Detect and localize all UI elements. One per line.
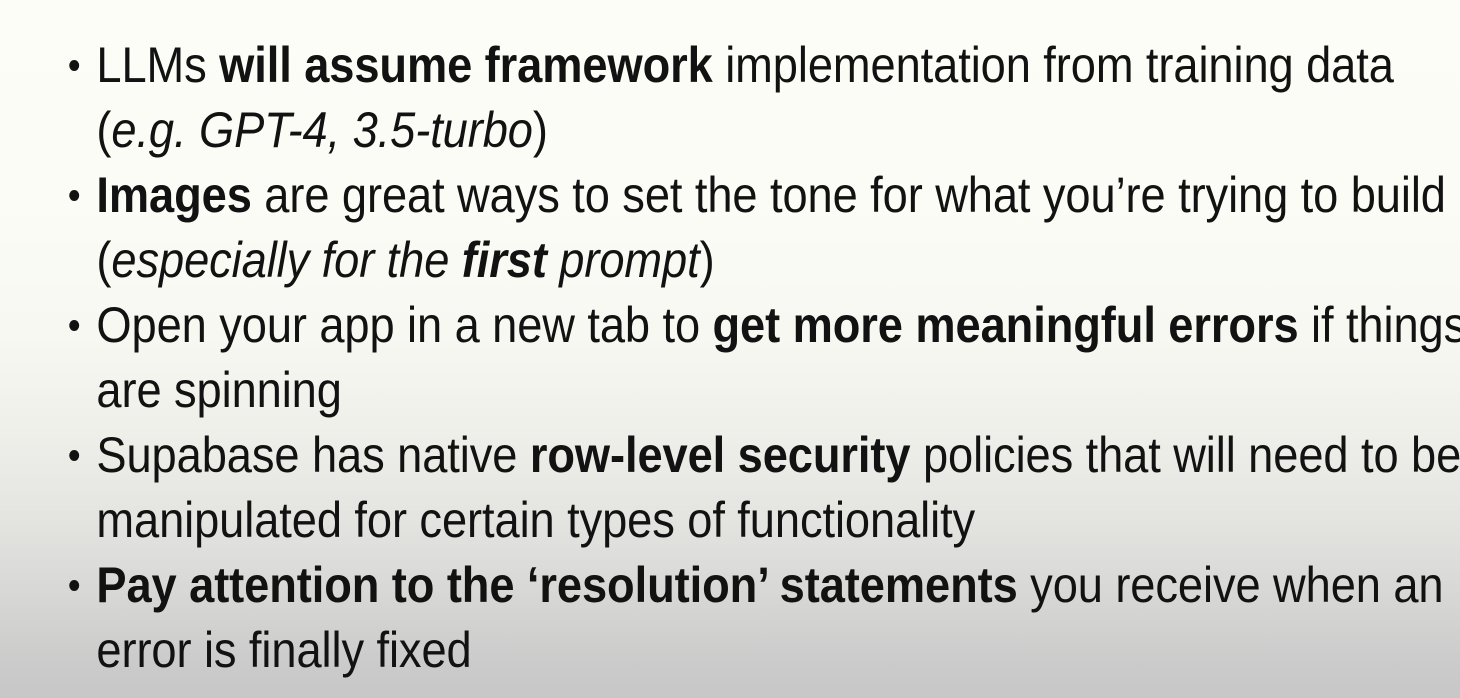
bullet-open-app-new-tab: Open your app in a new tab to get more m… [62,293,1460,423]
bullet-text-run: prompt [547,232,700,288]
bullet-resolution-statements: Pay attention to the ‘resolution’ statem… [62,553,1460,683]
bullet-text-run: ) [700,232,715,288]
bullet-text-run: Images [96,167,251,223]
bullet-text-run: will assume framework [219,37,713,93]
bullet-text-run: first [462,232,547,288]
bullet-dot-icon [69,60,79,71]
slide-canvas: LLMs will assume framework implementatio… [0,0,1460,698]
bullet-text: LLMs will assume framework implementatio… [96,33,1460,163]
bullet-dot-icon [69,450,79,461]
bullet-text-run: e.g. GPT-4, 3.5-turbo [111,102,533,158]
bullet-text-run: get more meaningful errors [713,297,1299,353]
bullet-text-run: especially for the [111,232,461,288]
bullet-images-set-tone: Images are great ways to set the tone fo… [62,163,1460,293]
bullet-text-run: row-level security [530,427,911,483]
bullet-text: Pay attention to the ‘resolution’ statem… [96,553,1460,683]
bullet-list: LLMs will assume framework implementatio… [62,33,1444,683]
bullet-text: Open your app in a new tab to get more m… [96,293,1460,423]
bullet-dot-icon [69,190,79,201]
bullet-text-run: Open your app in a new tab to [96,297,712,353]
bullet-text-run: Pay attention to the ‘resolution’ statem… [96,557,1017,613]
bullet-llms-assume-framework: LLMs will assume framework implementatio… [62,33,1460,163]
bullet-supabase-row-level-security: Supabase has native row-level security p… [62,423,1460,553]
bullet-text-run: ) [533,102,548,158]
bullet-dot-icon [69,580,79,591]
bullet-dot-icon [69,320,79,331]
bullet-text: Images are great ways to set the tone fo… [96,163,1460,293]
bullet-text: Supabase has native row-level security p… [96,423,1460,553]
bullet-text-run: Supabase has native [96,427,529,483]
bullet-text-run: LLMs [96,37,219,93]
